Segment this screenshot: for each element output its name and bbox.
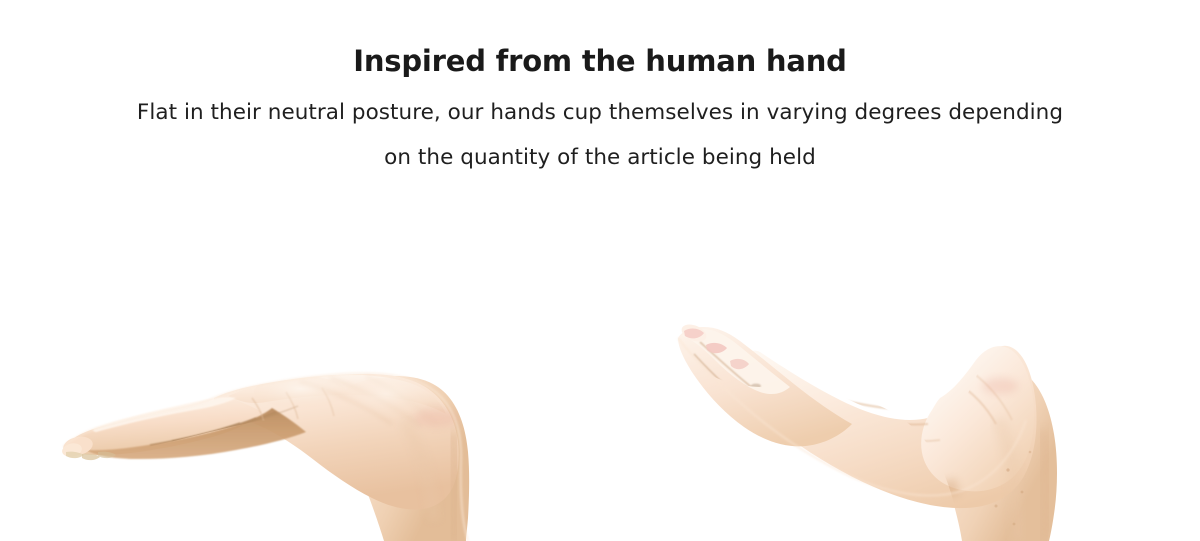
page-root: Inspired from the human hand Flat in the… [0, 0, 1200, 541]
header-text-block: Inspired from the human hand Flat in the… [0, 0, 1200, 180]
right-hand-cupped [678, 321, 1057, 541]
page-title: Inspired from the human hand [0, 0, 1200, 80]
page-subtitle: Flat in their neutral posture, our hands… [0, 80, 1200, 180]
page-subtitle-line-2: on the quantity of the article being hel… [0, 135, 1200, 180]
page-subtitle-line-1: Flat in their neutral posture, our hands… [0, 90, 1200, 135]
left-hand-flat [61, 373, 469, 541]
